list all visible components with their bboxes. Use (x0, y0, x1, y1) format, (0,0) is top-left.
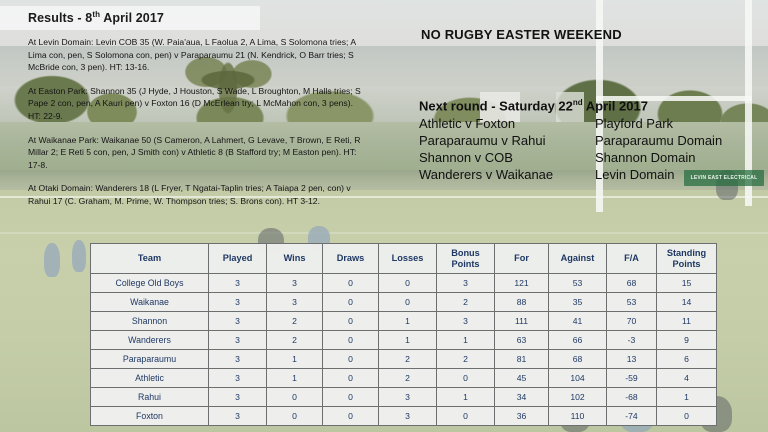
fixture-row: Athletic v Foxton Playford Park (419, 115, 759, 132)
cell-standing-points: 14 (657, 293, 717, 312)
column-header-standing-points: Standing Points (657, 244, 717, 274)
fixture-venue: Levin Domain (595, 166, 759, 183)
fixture-row: Shannon v COB Shannon Domain (419, 149, 759, 166)
table-row: Athletic3102045104-594 (91, 369, 717, 388)
cell-points-difference: 68 (607, 274, 657, 293)
column-header-bonus-points: Bonus Points (437, 244, 495, 274)
table-row: Shannon32013111417011 (91, 312, 717, 331)
cell-bonus-points: 0 (437, 369, 495, 388)
results-list: At Levin Domain: Levin COB 35 (W. Paia'a… (28, 36, 368, 219)
cell-team-name: Shannon (91, 312, 209, 331)
result-paragraph: At Levin Domain: Levin COB 35 (W. Paia'a… (28, 36, 368, 74)
column-header-wins: Wins (267, 244, 323, 274)
cell-draws: 0 (323, 293, 379, 312)
cell-bonus-points: 1 (437, 388, 495, 407)
cell-points-for: 88 (495, 293, 549, 312)
cell-points-against: 110 (549, 407, 607, 426)
cell-team-name: Athletic (91, 369, 209, 388)
cell-losses: 3 (379, 407, 437, 426)
cell-standing-points: 1 (657, 388, 717, 407)
slide-canvas: LEVIN EAST ELECTRICAL Results - 8th Apri… (0, 0, 768, 432)
cell-team-name: Rahui (91, 388, 209, 407)
cell-played: 3 (209, 350, 267, 369)
cell-team-name: Waikanae (91, 293, 209, 312)
table-row: College Old Boys33003121536815 (91, 274, 717, 293)
next-round-heading-suffix: April 2017 (583, 98, 648, 113)
next-round-heading: Next round - Saturday 22nd April 2017 (419, 98, 648, 113)
fixture-venue: Shannon Domain (595, 149, 759, 166)
cell-wins: 2 (267, 312, 323, 331)
cell-points-against: 35 (549, 293, 607, 312)
cell-draws: 0 (323, 274, 379, 293)
cell-wins: 1 (267, 369, 323, 388)
fixture-venue: Playford Park (595, 115, 759, 132)
cell-points-against: 66 (549, 331, 607, 350)
fixture-venue: Paraparaumu Domain (595, 132, 759, 149)
cell-team-name: Paraparaumu (91, 350, 209, 369)
table-row: Foxton3003036110-740 (91, 407, 717, 426)
cell-points-difference: 13 (607, 350, 657, 369)
cell-draws: 0 (323, 407, 379, 426)
cell-losses: 1 (379, 331, 437, 350)
next-round-heading-ordinal: nd (573, 98, 583, 107)
cell-points-difference: 70 (607, 312, 657, 331)
standings-table: Team Played Wins Draws Losses Bonus Poin… (90, 243, 717, 426)
cell-points-difference: -74 (607, 407, 657, 426)
cell-losses: 2 (379, 369, 437, 388)
cell-played: 3 (209, 274, 267, 293)
cell-team-name: Wanderers (91, 331, 209, 350)
cell-bonus-points: 2 (437, 350, 495, 369)
cell-draws: 0 (323, 331, 379, 350)
cell-played: 3 (209, 293, 267, 312)
column-header-against: Against (549, 244, 607, 274)
cell-points-for: 36 (495, 407, 549, 426)
cell-draws: 0 (323, 388, 379, 407)
column-header-played: Played (209, 244, 267, 274)
cell-team-name: College Old Boys (91, 274, 209, 293)
background-player-2 (72, 240, 86, 272)
fixture-list: Athletic v Foxton Playford Park Parapara… (419, 115, 759, 183)
cell-team-name: Foxton (91, 407, 209, 426)
cell-points-for: 81 (495, 350, 549, 369)
cell-draws: 0 (323, 312, 379, 331)
cell-wins: 2 (267, 331, 323, 350)
fixture-row: Wanderers v Waikanae Levin Domain (419, 166, 759, 183)
table-row: Paraparaumu310228168136 (91, 350, 717, 369)
cell-points-against: 41 (549, 312, 607, 331)
result-paragraph: At Easton Park: Shannon 35 (J Hyde, J Ho… (28, 85, 368, 123)
cell-standing-points: 15 (657, 274, 717, 293)
cell-points-against: 102 (549, 388, 607, 407)
result-paragraph: At Waikanae Park: Waikanae 50 (S Cameron… (28, 134, 368, 172)
fixture-match: Athletic v Foxton (419, 115, 595, 132)
result-paragraph: At Otaki Domain: Wanderers 18 (L Fryer, … (28, 182, 368, 207)
table-row: Rahui3003134102-681 (91, 388, 717, 407)
cell-played: 3 (209, 407, 267, 426)
cell-draws: 0 (323, 369, 379, 388)
cell-points-for: 45 (495, 369, 549, 388)
cell-losses: 0 (379, 293, 437, 312)
cell-played: 3 (209, 388, 267, 407)
table-row: Wanderers320116366-39 (91, 331, 717, 350)
cell-standing-points: 6 (657, 350, 717, 369)
background-player-1 (44, 243, 60, 277)
cell-points-difference: -59 (607, 369, 657, 388)
cell-points-against: 104 (549, 369, 607, 388)
column-header-fa: F/A (607, 244, 657, 274)
next-round-heading-prefix: Next round - Saturday 22 (419, 98, 573, 113)
cell-losses: 3 (379, 388, 437, 407)
fixture-match: Paraparaumu v Rahui (419, 132, 595, 149)
cell-points-difference: -3 (607, 331, 657, 350)
cell-losses: 2 (379, 350, 437, 369)
cell-wins: 3 (267, 274, 323, 293)
column-header-losses: Losses (379, 244, 437, 274)
fixture-row: Paraparaumu v Rahui Paraparaumu Domain (419, 132, 759, 149)
cell-bonus-points: 1 (437, 331, 495, 350)
cell-wins: 0 (267, 407, 323, 426)
cell-points-difference: 53 (607, 293, 657, 312)
cell-wins: 3 (267, 293, 323, 312)
results-heading-prefix: Results - 8 (28, 11, 92, 25)
cell-standing-points: 9 (657, 331, 717, 350)
cell-standing-points: 4 (657, 369, 717, 388)
cell-wins: 0 (267, 388, 323, 407)
cell-points-against: 68 (549, 350, 607, 369)
field-line-lower (0, 232, 768, 234)
cell-points-for: 111 (495, 312, 549, 331)
cell-draws: 0 (323, 350, 379, 369)
cell-played: 3 (209, 312, 267, 331)
cell-points-difference: -68 (607, 388, 657, 407)
fixture-match: Wanderers v Waikanae (419, 166, 595, 183)
column-header-for: For (495, 244, 549, 274)
cell-bonus-points: 3 (437, 312, 495, 331)
cell-points-for: 63 (495, 331, 549, 350)
cell-losses: 1 (379, 312, 437, 331)
cell-standing-points: 11 (657, 312, 717, 331)
fixture-match: Shannon v COB (419, 149, 595, 166)
cell-points-against: 53 (549, 274, 607, 293)
cell-bonus-points: 3 (437, 274, 495, 293)
column-header-draws: Draws (323, 244, 379, 274)
cell-losses: 0 (379, 274, 437, 293)
easter-weekend-notice: NO RUGBY EASTER WEEKEND (421, 27, 622, 42)
cell-wins: 1 (267, 350, 323, 369)
column-header-team: Team (91, 244, 209, 274)
standings-body: College Old Boys33003121536815Waikanae33… (91, 274, 717, 426)
cell-bonus-points: 2 (437, 293, 495, 312)
cell-points-for: 121 (495, 274, 549, 293)
cell-played: 3 (209, 331, 267, 350)
results-heading-ordinal: th (92, 10, 100, 19)
standings-header-row: Team Played Wins Draws Losses Bonus Poin… (91, 244, 717, 274)
cell-bonus-points: 0 (437, 407, 495, 426)
results-heading-suffix: April 2017 (100, 11, 164, 25)
results-heading: Results - 8th April 2017 (28, 10, 164, 25)
cell-standing-points: 0 (657, 407, 717, 426)
cell-played: 3 (209, 369, 267, 388)
table-row: Waikanae3300288355314 (91, 293, 717, 312)
cell-points-for: 34 (495, 388, 549, 407)
